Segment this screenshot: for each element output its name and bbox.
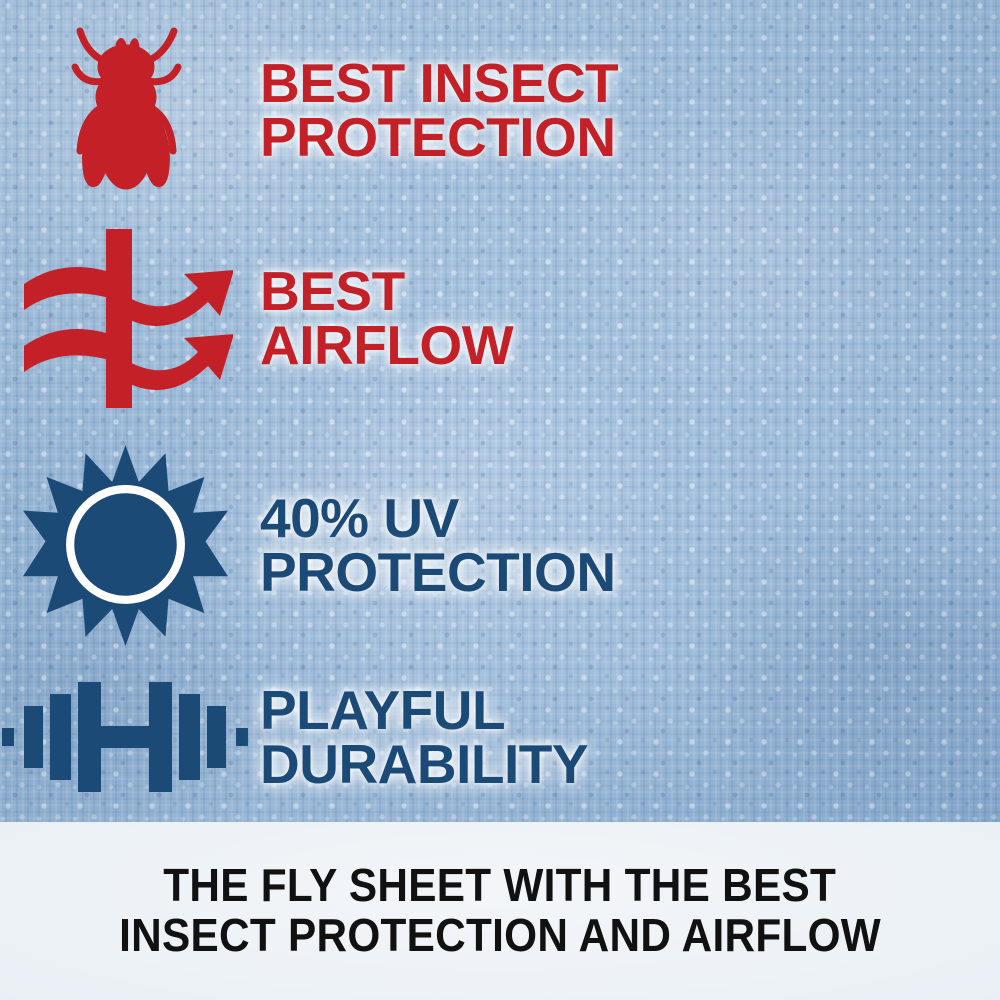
feature-label-line1: BEST INSECT [260,56,618,110]
product-feature-poster: BEST INSECT PROTECTION [0,0,1000,1000]
feature-icon-cell [0,673,250,801]
feature-text-cell: BEST INSECT PROTECTION [250,56,618,165]
feature-label-line2: PROTECTION [260,545,616,599]
feature-label-line1: 40% UV [260,491,616,545]
feature-text-cell: 40% UV PROTECTION [250,491,616,600]
feature-icon-cell [0,226,250,411]
feature-label-line1: BEST [260,264,513,318]
sun-uv-icon [23,443,228,648]
feature-row-insect-protection: BEST INSECT PROTECTION [0,10,1000,210]
feature-row-uv-protection: 40% UV PROTECTION [0,436,1000,654]
dumbbell-icon [0,673,250,801]
caption-line-2: INSECT PROTECTION AND AIRFLOW [119,911,881,961]
feature-label-line2: DURABILITY [260,737,588,791]
feature-row-durability: PLAYFUL DURABILITY [0,652,1000,822]
feature-icon-cell [0,443,250,648]
airflow-icon [18,226,233,411]
feature-icon-cell [0,15,250,205]
fly-icon [50,15,200,205]
feature-list: BEST INSECT PROTECTION [0,0,1000,822]
feature-label-line2: PROTECTION [260,110,618,164]
feature-label-line2: AIRFLOW [260,318,513,372]
caption-line-1: THE FLY SHEET WITH THE BEST [164,861,837,911]
feature-label-line1: PLAYFUL [260,683,588,737]
caption-band: THE FLY SHEET WITH THE BEST INSECT PROTE… [0,822,1000,1000]
feature-text-cell: PLAYFUL DURABILITY [250,683,588,792]
feature-text-cell: BEST AIRFLOW [250,264,513,373]
feature-row-airflow: BEST AIRFLOW [0,218,1000,418]
